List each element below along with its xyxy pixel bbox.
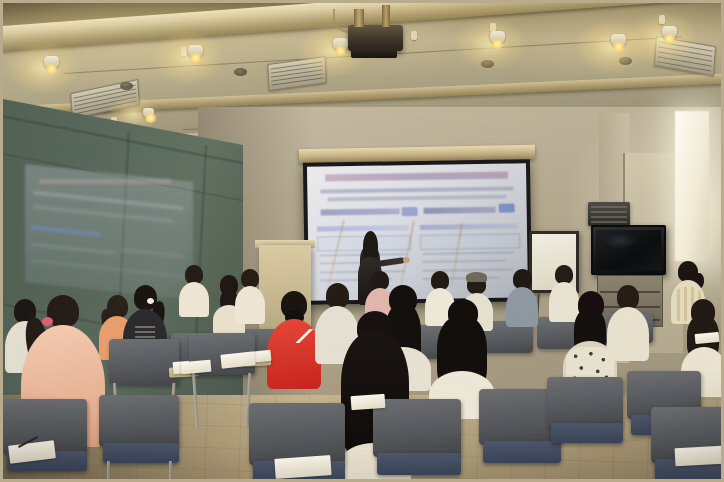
hair-tie bbox=[42, 317, 53, 326]
audience-member bbox=[179, 265, 209, 317]
recessed-light-icon bbox=[619, 57, 632, 65]
air-conditioner bbox=[588, 202, 630, 226]
ceiling-clip bbox=[411, 31, 417, 40]
ceiling-spotlight bbox=[188, 45, 203, 58]
notebook bbox=[675, 446, 721, 466]
ceiling-spotlight bbox=[333, 38, 348, 51]
hair bbox=[326, 283, 349, 308]
ceiling-spotlight bbox=[611, 34, 626, 47]
ceiling-clip bbox=[659, 15, 665, 24]
slide-subtitle-text bbox=[320, 186, 513, 193]
torso bbox=[607, 307, 649, 361]
screen-surface bbox=[307, 163, 528, 300]
torso bbox=[235, 286, 265, 324]
ceiling-clip bbox=[181, 47, 187, 56]
projector-lens bbox=[351, 49, 397, 58]
window bbox=[675, 111, 709, 261]
notebook bbox=[351, 394, 386, 410]
recessed-light-icon bbox=[234, 68, 247, 76]
torso bbox=[179, 282, 209, 317]
television-glare bbox=[603, 233, 639, 249]
slide-row bbox=[422, 252, 514, 255]
audience-member bbox=[607, 285, 649, 361]
ceiling-spotlight bbox=[662, 26, 677, 39]
audience-member bbox=[267, 291, 321, 387]
hair bbox=[617, 285, 639, 309]
ceiling-spotlight bbox=[44, 56, 59, 69]
torso bbox=[506, 287, 538, 327]
audience-member bbox=[506, 269, 538, 327]
television-display bbox=[591, 225, 666, 275]
recessed-light-icon bbox=[120, 82, 133, 90]
lecture-room-scene bbox=[3, 3, 721, 479]
recessed-light-icon bbox=[481, 60, 494, 68]
notebook bbox=[695, 332, 720, 344]
cap bbox=[466, 272, 487, 282]
slide-table-right bbox=[420, 233, 521, 250]
audience-member bbox=[235, 269, 265, 323]
screen-reflection-title bbox=[39, 179, 171, 184]
television-screen bbox=[596, 230, 661, 270]
slide-band bbox=[420, 224, 519, 231]
slide-column-heading-left bbox=[321, 208, 400, 215]
hair bbox=[513, 269, 532, 289]
slide-logo-right bbox=[498, 204, 514, 213]
slide-row bbox=[422, 260, 505, 263]
jacket-stripe bbox=[293, 329, 315, 343]
slide-subtitle-text bbox=[327, 194, 507, 201]
shirt-print bbox=[135, 325, 155, 338]
presenter-hand bbox=[403, 257, 410, 263]
screen-reflection bbox=[25, 164, 193, 300]
hair-tie bbox=[147, 298, 154, 304]
ceiling-projector bbox=[348, 25, 403, 51]
ceiling-spotlight bbox=[143, 108, 154, 118]
slide-column-heading-right bbox=[424, 207, 496, 214]
ceiling-spotlight bbox=[490, 31, 505, 44]
photograph: Interior photograph of a university lect… bbox=[0, 0, 724, 482]
slide-title-text bbox=[325, 172, 509, 182]
slide-logo-left bbox=[402, 207, 418, 216]
